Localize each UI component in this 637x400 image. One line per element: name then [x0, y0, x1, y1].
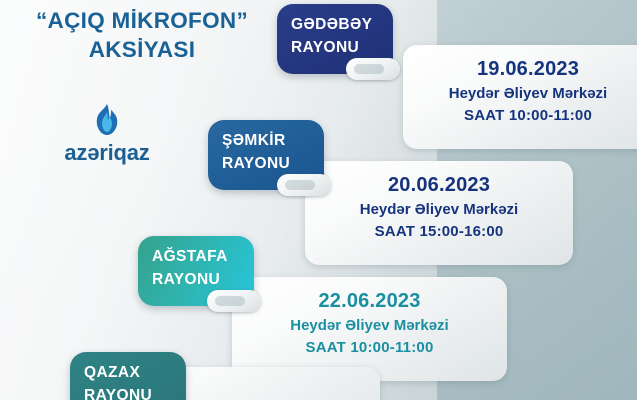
- event-time-1: SAAT 10:00-11:00: [403, 105, 637, 127]
- connector-hole-3: [215, 296, 245, 306]
- connector-hole-1: [354, 64, 384, 74]
- event-time-2: SAAT 15:00-16:00: [305, 221, 573, 243]
- event-panel-3: 22.06.2023 Heydər Əliyev Mərkəzi SAAT 10…: [232, 277, 507, 381]
- event-venue-1: Heydər Əliyev Mərkəzi: [403, 82, 637, 105]
- chain-link-connector-1: [346, 58, 400, 80]
- event-date-1: 19.06.2023: [403, 56, 637, 82]
- district-name-line2-4: RAYONU: [84, 384, 186, 400]
- event-time-3: SAAT 10:00-11:00: [232, 337, 507, 359]
- district-name-line1-1: GƏDƏBƏY: [291, 13, 393, 36]
- event-panel-1: 19.06.2023 Heydər Əliyev Mərkəzi SAAT 10…: [403, 45, 637, 149]
- poster-canvas: “AÇIQ MİKROFON” AKSİYASI azəriqaz 19.06.…: [0, 0, 637, 400]
- district-name-line1-2: ŞƏMKİR: [222, 129, 324, 152]
- event-date-3: 22.06.2023: [232, 288, 507, 314]
- event-venue-3: Heydər Əliyev Mərkəzi: [232, 314, 507, 337]
- azeriqaz-logo: azəriqaz: [47, 103, 167, 165]
- district-badge-qazax: QAZAX RAYONU: [70, 352, 186, 400]
- title-line-1: “AÇIQ MİKROFON”: [6, 6, 278, 35]
- district-name-line1-3: AĞSTAFA: [152, 245, 254, 268]
- title-line-2: AKSİYASI: [6, 35, 278, 64]
- district-name-line2-2: RAYONU: [222, 152, 324, 175]
- poster-title: “AÇIQ MİKROFON” AKSİYASI: [6, 6, 278, 64]
- district-name-line1-4: QAZAX: [84, 361, 186, 384]
- chain-link-connector-2: [277, 174, 331, 196]
- district-name-line2-1: RAYONU: [291, 36, 393, 59]
- azeriqaz-wordmark: azəriqaz: [47, 141, 167, 165]
- event-date-2: 20.06.2023: [305, 172, 573, 198]
- event-panel-2: 20.06.2023 Heydər Əliyev Mərkəzi SAAT 15…: [305, 161, 573, 265]
- district-name-line2-3: RAYONU: [152, 268, 254, 291]
- event-venue-2: Heydər Əliyev Mərkəzi: [305, 198, 573, 221]
- flame-icon: [92, 103, 122, 137]
- chain-link-connector-3: [207, 290, 261, 312]
- connector-hole-2: [285, 180, 315, 190]
